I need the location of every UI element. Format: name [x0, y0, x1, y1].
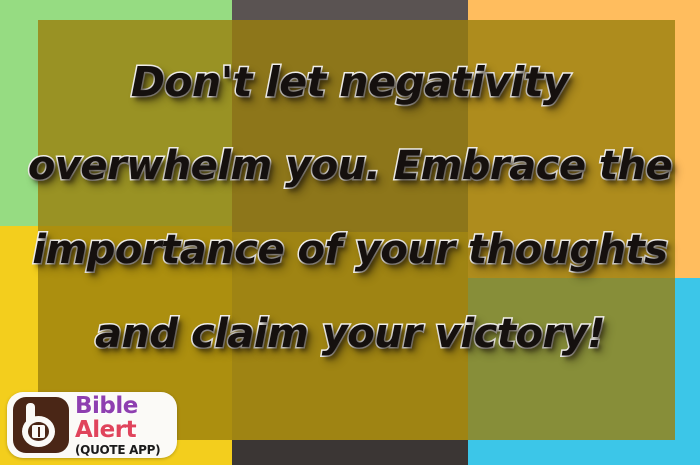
logo-wordmark: Bible Alert (QUOTE APP) — [75, 395, 160, 456]
logo-word-bible: Bible — [75, 395, 160, 418]
quote-line-3: importance of your thoughts — [32, 208, 667, 292]
quote-line-1: Don't let negativity — [131, 40, 569, 124]
quote-image-card: Don't let negativity overwhelm you. Embr… — [0, 0, 700, 465]
quote-text-block: Don't let negativity overwhelm you. Embr… — [0, 0, 700, 380]
bg-block-bottom-mid-dark — [232, 440, 468, 465]
quote-line-2: overwhelm you. Embrace the — [28, 124, 672, 208]
logo-word-alert: Alert — [75, 419, 160, 442]
logo-book-icon — [32, 425, 45, 438]
quote-line-4: and claim your victory! — [95, 292, 605, 376]
logo-subtitle: (QUOTE APP) — [75, 444, 160, 456]
bible-b-book-icon — [13, 397, 69, 453]
bible-alert-logo-badge[interactable]: Bible Alert (QUOTE APP) — [7, 392, 177, 458]
